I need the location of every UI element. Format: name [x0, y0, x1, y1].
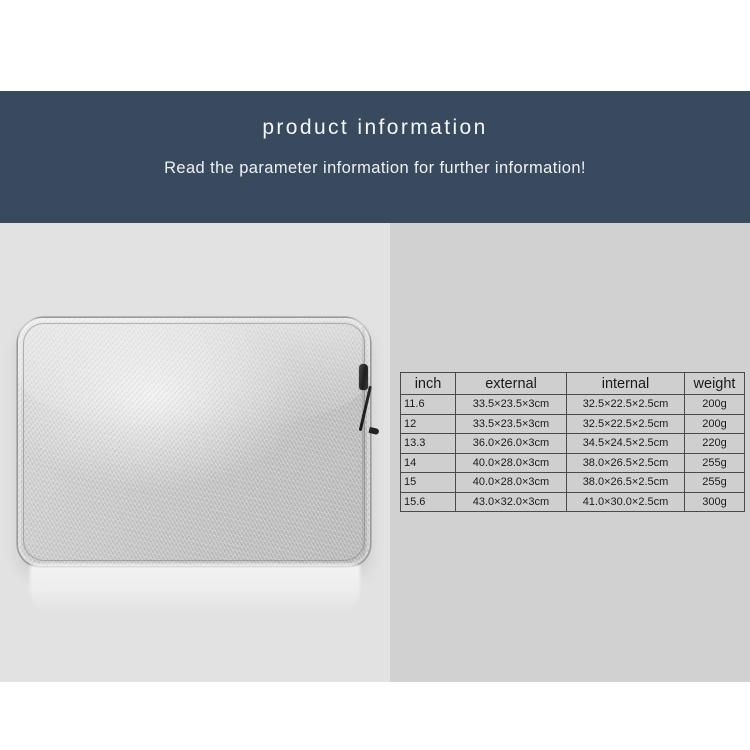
cell-internal: 34.5×24.5×2.5cm — [567, 434, 685, 454]
page-title: product information — [262, 117, 487, 138]
cell-inch: 15.6 — [401, 492, 456, 512]
table-row: 15 40.0×28.0×3cm 38.0×26.5×2.5cm 255g — [401, 473, 745, 493]
cell-weight: 200g — [685, 395, 745, 415]
cell-weight: 200g — [685, 414, 745, 434]
table-row: 14 40.0×28.0×3cm 38.0×26.5×2.5cm 255g — [401, 453, 745, 473]
cell-inch: 13.3 — [401, 434, 456, 454]
column-header-inch: inch — [401, 373, 456, 395]
spec-table-container: inch external internal weight 11.6 33.5×… — [400, 372, 744, 512]
column-header-external: external — [456, 373, 567, 395]
cell-external: 36.0×26.0×3cm — [456, 434, 567, 454]
cell-weight: 300g — [685, 492, 745, 512]
cell-inch: 11.6 — [401, 395, 456, 415]
cell-internal: 38.0×26.5×2.5cm — [567, 473, 685, 493]
product-reflection — [30, 565, 360, 615]
cell-internal: 32.5×22.5×2.5cm — [567, 395, 685, 415]
cell-weight: 255g — [685, 473, 745, 493]
zipper-slider-icon — [359, 364, 368, 390]
cell-external: 43.0×32.0×3cm — [456, 492, 567, 512]
cell-external: 33.5×23.5×3cm — [456, 395, 567, 415]
cell-internal: 32.5×22.5×2.5cm — [567, 414, 685, 434]
cell-inch: 12 — [401, 414, 456, 434]
cell-external: 33.5×23.5×3cm — [456, 414, 567, 434]
cell-external: 40.0×28.0×3cm — [456, 473, 567, 493]
zipper-track — [362, 326, 365, 558]
cell-internal: 41.0×30.0×2.5cm — [567, 492, 685, 512]
cell-external: 40.0×28.0×3cm — [456, 453, 567, 473]
fabric-texture — [18, 318, 370, 566]
specification-table: inch external internal weight 11.6 33.5×… — [400, 372, 745, 512]
cell-weight: 255g — [685, 453, 745, 473]
table-row: 13.3 36.0×26.0×3cm 34.5×24.5×2.5cm 220g — [401, 434, 745, 454]
table-row: 11.6 33.5×23.5×3cm 32.5×22.5×2.5cm 200g — [401, 395, 745, 415]
product-photo — [0, 223, 390, 682]
table-row: 12 33.5×23.5×3cm 32.5×22.5×2.5cm 200g — [401, 414, 745, 434]
cell-inch: 15 — [401, 473, 456, 493]
page-subtitle: Read the parameter information for furth… — [164, 160, 586, 177]
product-information-page: product information Read the parameter i… — [0, 0, 750, 750]
cell-internal: 38.0×26.5×2.5cm — [567, 453, 685, 473]
laptop-sleeve-image — [18, 318, 370, 566]
zipper-pull-tip-icon — [368, 427, 379, 435]
header-banner: product information Read the parameter i… — [0, 91, 750, 223]
cell-weight: 220g — [685, 434, 745, 454]
table-header-row: inch external internal weight — [401, 373, 745, 395]
column-header-weight: weight — [685, 373, 745, 395]
cell-inch: 14 — [401, 453, 456, 473]
product-image-panel — [0, 223, 390, 682]
table-row: 15.6 43.0×32.0×3cm 41.0×30.0×2.5cm 300g — [401, 492, 745, 512]
column-header-internal: internal — [567, 373, 685, 395]
